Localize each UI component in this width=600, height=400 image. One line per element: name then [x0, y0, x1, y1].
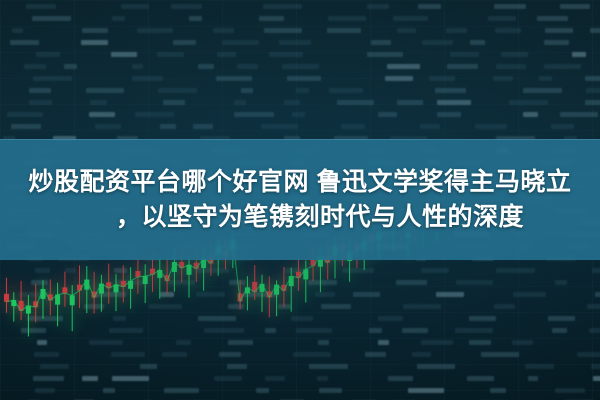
band-top-edge — [0, 139, 600, 140]
thumbnail-image: 炒股配资平台哪个好官网 鲁迅文学奖得主马晓立 ，以坚守为笔镌刻时代与人性的深度 — [0, 0, 600, 400]
headline-band — [0, 139, 600, 260]
